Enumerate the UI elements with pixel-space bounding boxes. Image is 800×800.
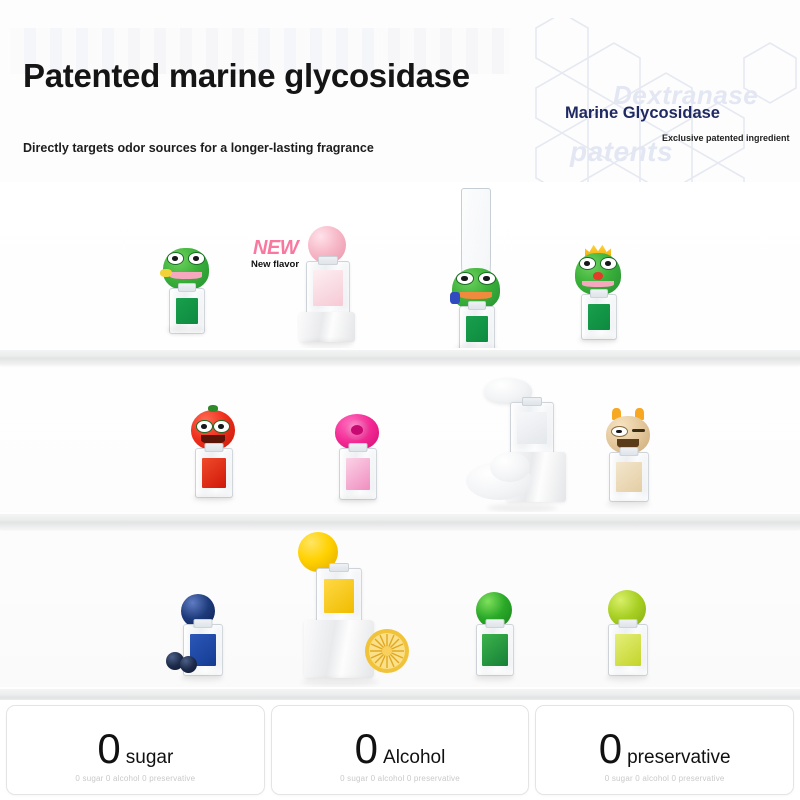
product-tomato-bottle[interactable] xyxy=(186,410,240,512)
new-badge-sublabel: New flavor xyxy=(251,259,299,270)
product-frog-lab-bottle[interactable] xyxy=(446,188,506,348)
claim-note: 0 sugar 0 alcohol 0 preservative xyxy=(7,774,264,783)
claim-zero-value: 0 xyxy=(97,728,120,770)
claim-card-sugar[interactable]: 0 sugar 0 sugar 0 alcohol 0 preservative xyxy=(6,705,265,795)
bottle-label xyxy=(482,634,508,666)
product-pineapple-bottle[interactable] xyxy=(288,532,408,688)
page-title: Patented marine glycosidase xyxy=(23,57,470,95)
bottle-label xyxy=(517,412,547,444)
product-dragon-bottle[interactable] xyxy=(600,408,656,512)
bottle-body xyxy=(581,294,617,340)
product-green-apple-bottle[interactable] xyxy=(468,592,520,688)
claim-label: Alcohol xyxy=(383,747,445,769)
product-rose-bottle[interactable] xyxy=(330,414,384,512)
blueberry-prop-icon xyxy=(180,656,197,673)
claim-label: preservative xyxy=(627,747,731,769)
product-pink-sphere-bottle[interactable] xyxy=(296,226,358,348)
product-crowned-frog-bottle[interactable] xyxy=(570,244,626,348)
bottle-label xyxy=(616,462,642,492)
product-display-stage xyxy=(0,182,800,700)
product-cloud-bottle[interactable] xyxy=(462,378,562,512)
new-badge-label: NEW xyxy=(253,237,298,260)
bottle-label xyxy=(324,579,354,613)
bottle-label xyxy=(313,270,343,306)
bottle-body xyxy=(476,624,514,676)
bottle-label xyxy=(466,316,488,342)
claim-note: 0 sugar 0 alcohol 0 preservative xyxy=(272,774,529,783)
bottle-body xyxy=(608,624,648,676)
bottle-body xyxy=(195,448,233,498)
product-lime-bottle[interactable] xyxy=(600,590,654,688)
product-feature-banner: Patented marine glycosidase Directly tar… xyxy=(0,0,800,800)
patent-tagline: Exclusive patented ingredient xyxy=(662,133,790,143)
bottle-label xyxy=(588,304,610,330)
product-green-frog-bottle[interactable] xyxy=(160,248,212,348)
bottle-body xyxy=(510,402,554,456)
page-subtitle: Directly targets odor sources for a long… xyxy=(23,141,374,155)
claim-card-preservative[interactable]: 0 preservative 0 sugar 0 alcohol 0 prese… xyxy=(535,705,794,795)
claims-row: 0 sugar 0 sugar 0 alcohol 0 preservative… xyxy=(0,700,800,800)
bottle-label xyxy=(176,298,198,324)
claim-note: 0 sugar 0 alcohol 0 preservative xyxy=(536,774,793,783)
bottle-riser xyxy=(299,312,355,342)
bottle-body xyxy=(609,452,649,502)
bottle-label xyxy=(346,458,370,490)
bottle-label xyxy=(615,634,641,666)
claim-zero-value: 0 xyxy=(599,728,622,770)
claim-label: sugar xyxy=(126,747,174,769)
shelf-top xyxy=(0,348,800,365)
product-blueberry-bottle[interactable] xyxy=(166,594,230,688)
patent-watermark-bottom: patents xyxy=(570,136,673,168)
bottle-label xyxy=(202,458,226,488)
bottle-body xyxy=(306,261,350,317)
pineapple-slice-icon xyxy=(364,628,410,674)
cloud-prop-icon xyxy=(490,452,530,482)
shelf-middle xyxy=(0,512,800,529)
bottle-body xyxy=(316,568,362,624)
patent-ingredient-name: Marine Glycosidase xyxy=(565,104,720,123)
claim-zero-value: 0 xyxy=(355,728,378,770)
bottle-body xyxy=(339,448,377,500)
claim-card-alcohol[interactable]: 0 Alcohol 0 sugar 0 alcohol 0 preservati… xyxy=(271,705,530,795)
